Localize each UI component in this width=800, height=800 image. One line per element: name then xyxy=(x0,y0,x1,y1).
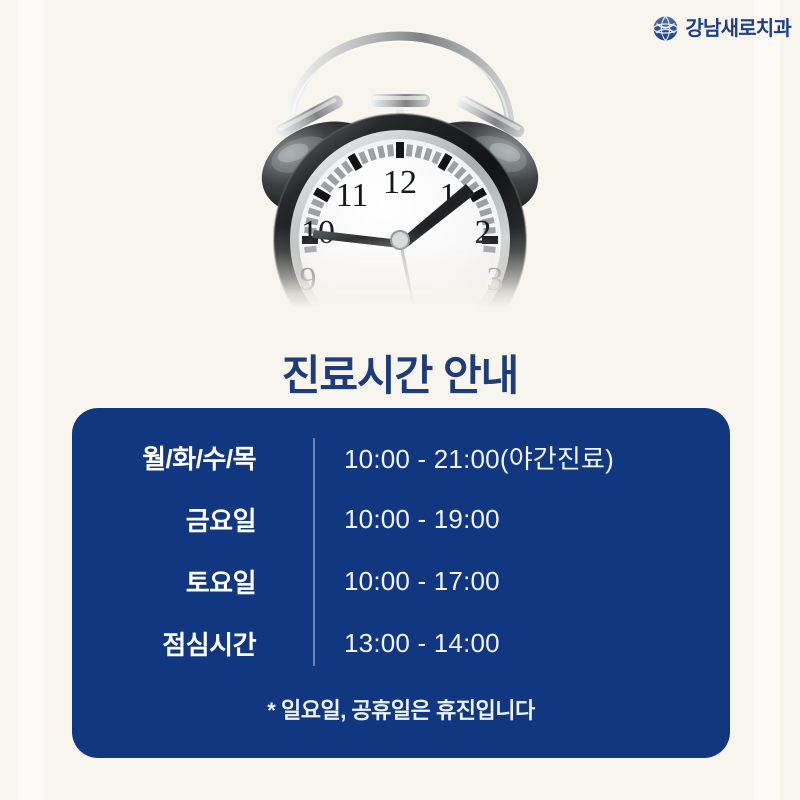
schedule-day-label: 월/화/수/목 xyxy=(72,439,282,476)
svg-text:3: 3 xyxy=(487,261,504,298)
alarm-clock-icon: 12 1 2 3 4 11 10 9 8 xyxy=(230,18,570,310)
svg-text:9: 9 xyxy=(300,261,317,298)
alarm-clock-illustration: 12 1 2 3 4 11 10 9 8 xyxy=(0,18,800,310)
svg-text:12: 12 xyxy=(383,164,417,201)
schedule-hours-value: 10:00 - 21:00(야간진료) xyxy=(282,439,730,476)
schedule-hours-value: 10:00 - 17:00 xyxy=(282,566,730,597)
schedule-hours-value: 10:00 - 19:00 xyxy=(282,504,730,535)
schedule-note: * 일요일, 공휴일은 휴진입니다 xyxy=(72,693,730,725)
schedule-day-label: 토요일 xyxy=(72,563,282,600)
schedule-hours-value: 13:00 - 14:00 xyxy=(282,628,730,659)
schedule-panel: 월/화/수/목 10:00 - 21:00(야간진료) 금요일 10:00 - … xyxy=(72,408,730,758)
svg-text:11: 11 xyxy=(336,177,369,214)
table-row: 점심시간 13:00 - 14:00 xyxy=(72,612,730,674)
schedule-table: 월/화/수/목 10:00 - 21:00(야간진료) 금요일 10:00 - … xyxy=(72,408,730,725)
svg-text:8: 8 xyxy=(314,301,331,310)
table-row: 금요일 10:00 - 19:00 xyxy=(72,488,730,550)
page-title: 진료시간 안내 xyxy=(0,350,800,403)
table-row: 월/화/수/목 10:00 - 21:00(야간진료) xyxy=(72,426,730,488)
svg-text:4: 4 xyxy=(472,301,489,310)
column-divider xyxy=(313,438,315,666)
table-row: 토요일 10:00 - 17:00 xyxy=(72,550,730,612)
poster-canvas: 강남새로치과 xyxy=(0,0,800,800)
schedule-day-label: 점심시간 xyxy=(72,625,282,662)
svg-text:2: 2 xyxy=(475,214,492,251)
schedule-day-label: 금요일 xyxy=(72,501,282,538)
